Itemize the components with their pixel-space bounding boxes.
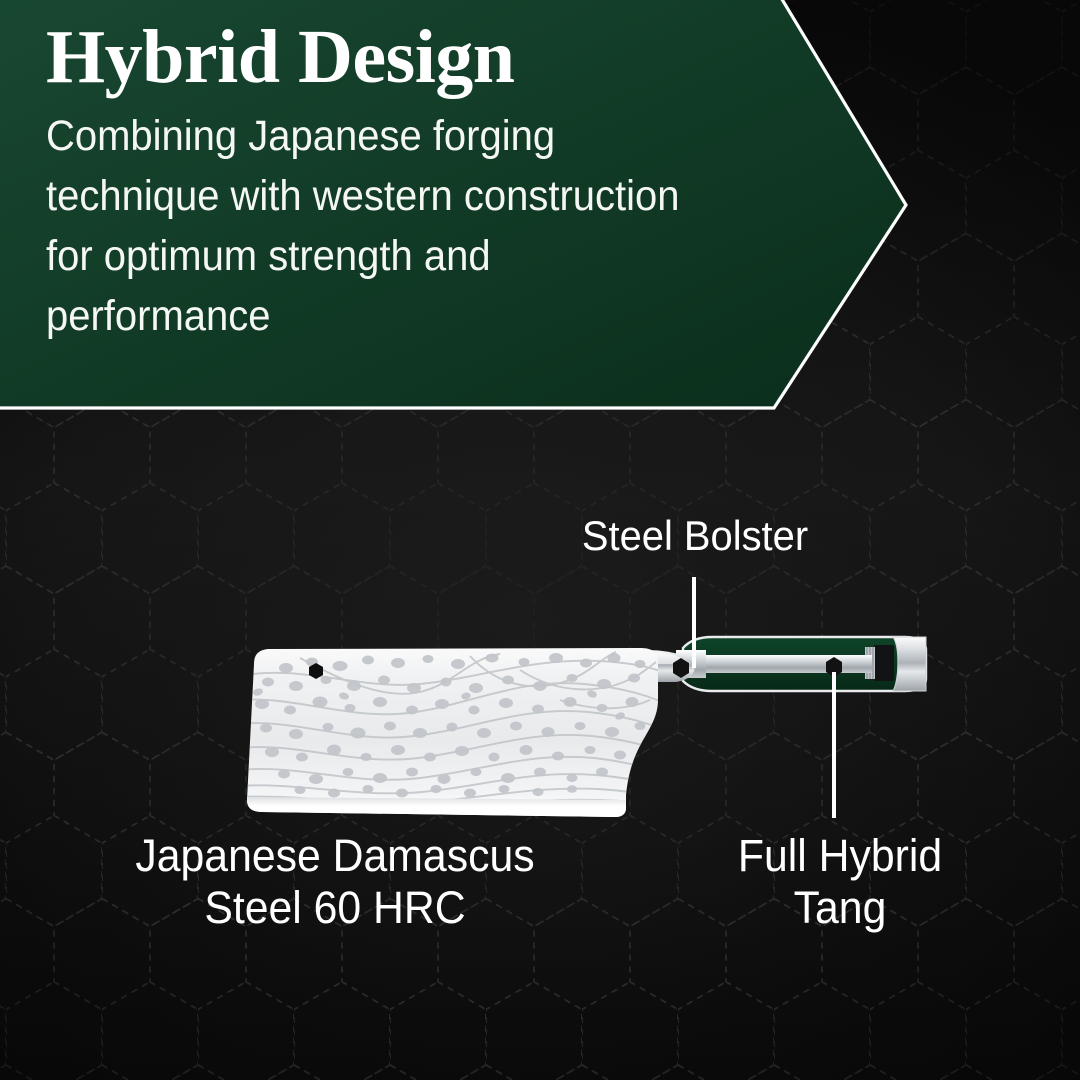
page-title: Hybrid Design <box>46 16 836 98</box>
infographic-canvas: Hybrid Design Combining Japanese forging… <box>0 0 1080 1080</box>
callout-japanese-damascus: Japanese Damascus Steel 60 HRC <box>69 830 601 934</box>
banner-subtitle: Combining Japanese forging technique wit… <box>46 106 781 346</box>
callout-full-hybrid-tang: Full Hybrid Tang <box>650 830 1030 934</box>
hybrid-design-banner: Hybrid Design Combining Japanese forging… <box>0 0 912 412</box>
banner-text-block: Hybrid Design Combining Japanese forging… <box>46 16 836 346</box>
callout-steel-bolster: Steel Bolster <box>472 512 919 559</box>
